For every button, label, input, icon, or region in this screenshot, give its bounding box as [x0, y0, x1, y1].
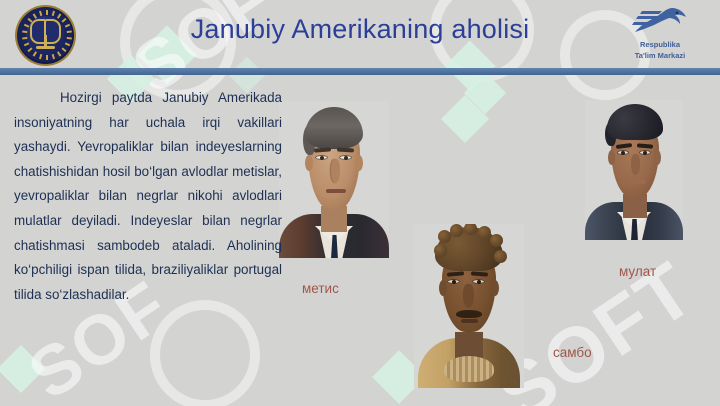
eye-left [447, 279, 460, 284]
nose [331, 159, 340, 183]
ear-left [305, 155, 313, 171]
eye-right [339, 155, 352, 160]
bird-icon [632, 4, 688, 38]
mouth [461, 319, 478, 323]
hair-curl [438, 230, 451, 243]
portrait-mulat [585, 100, 683, 240]
eye-left [617, 150, 629, 155]
nose [463, 284, 474, 308]
caption-mulat: мулат [619, 264, 656, 279]
logo-caption-line2: Ta'lim Markazi [614, 51, 706, 60]
moustache [456, 310, 482, 318]
ear-right [491, 280, 499, 296]
mouth [627, 179, 646, 184]
body-paragraph: Hozirgi paytda Janubiy Amerikada insoniy… [14, 86, 282, 307]
watermark-diamond [441, 95, 489, 143]
ear-left [439, 280, 447, 296]
emblem-base [36, 46, 55, 49]
emblem-rim-tick [46, 55, 48, 60]
watermark-circle [150, 300, 260, 406]
mouth [326, 189, 346, 193]
hair-curl [478, 226, 491, 239]
eye-right [639, 150, 651, 155]
eye-right [472, 279, 485, 284]
ear-right [654, 150, 661, 165]
watermark-diamond [464, 72, 506, 114]
hair-curl [450, 224, 463, 237]
ear-right [355, 155, 363, 171]
slide-header: Janubiy Amerikaning aholisi Respublika T… [0, 0, 720, 68]
respublika-talim-markazi-logo: Respublika Ta'lim Markazi [614, 4, 706, 66]
nose [631, 154, 640, 175]
slide-canvas: SOFT SOF SOF Janubiy Amerikaning aholisi [0, 0, 720, 406]
header-divider [0, 68, 720, 75]
logo-caption-line1: Respublika [614, 40, 706, 49]
ear-left [608, 150, 615, 165]
hair-curl [494, 250, 507, 263]
page-title: Janubiy Amerikaning aholisi [0, 14, 720, 45]
caption-sambo: самбо [553, 345, 592, 360]
watermark-diamond [0, 345, 45, 393]
caption-metis: метис [302, 281, 339, 296]
portrait-sambo [414, 224, 524, 388]
portrait-metis [279, 101, 389, 258]
hair-curl [434, 244, 447, 257]
woven-collar [444, 356, 494, 382]
eye-left [315, 155, 328, 160]
hair-curl [490, 234, 503, 247]
